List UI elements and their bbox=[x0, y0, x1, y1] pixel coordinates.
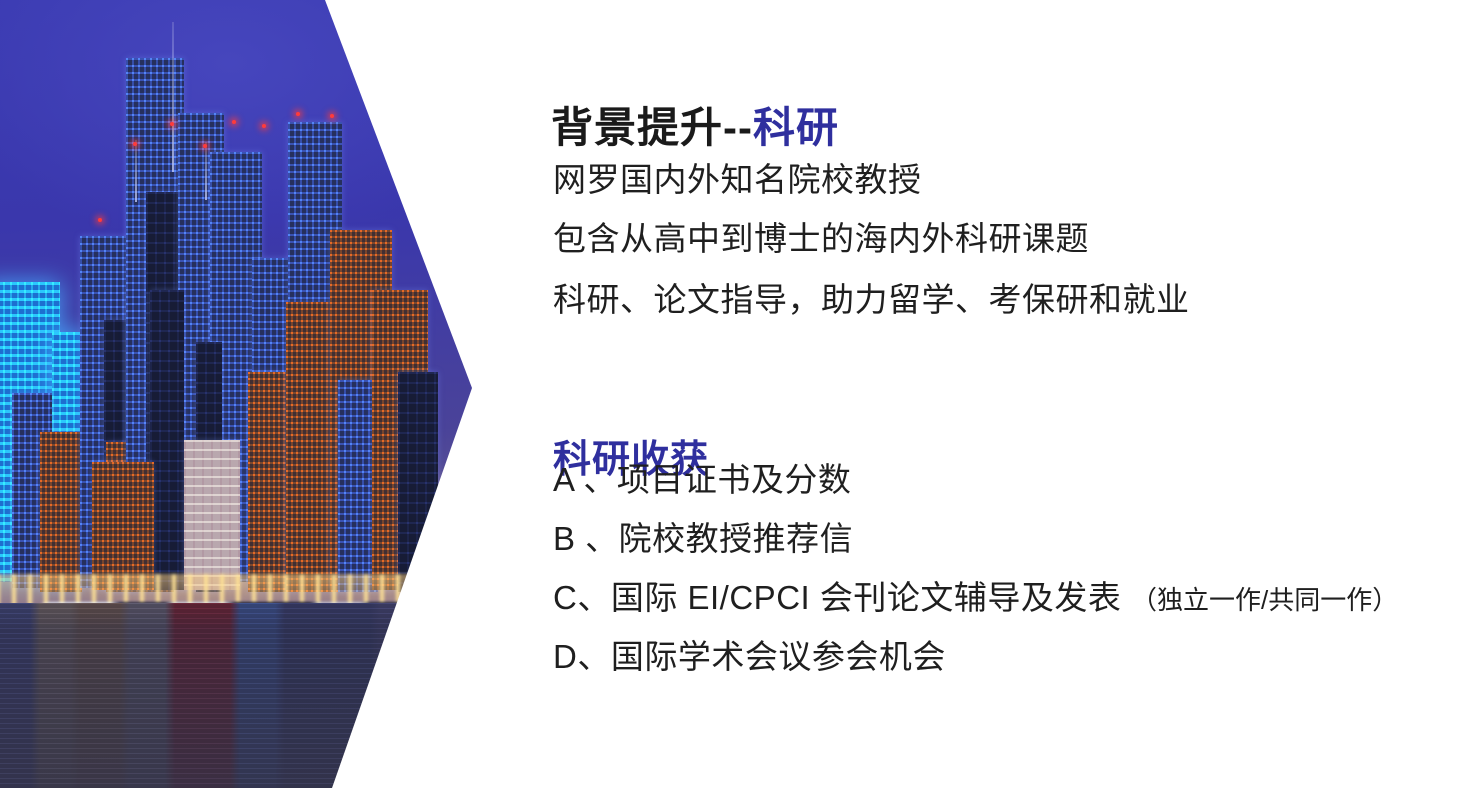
harbor-water bbox=[0, 603, 500, 788]
aviation-light-6 bbox=[296, 112, 300, 116]
benefit-item: D、国际学术会议参会机会 bbox=[553, 640, 946, 673]
aviation-light-4 bbox=[232, 120, 236, 124]
aviation-light bbox=[170, 122, 174, 126]
benefit-label: C、国际 EI/CPCI 会刊论文辅导及发表 bbox=[553, 579, 1131, 616]
benefit-label: B 、院校教授推荐信 bbox=[553, 520, 853, 557]
intro-line: 科研、论文指导，助力留学、考保研和就业 bbox=[553, 283, 1190, 316]
page-title: 背景提升--科研 bbox=[551, 94, 839, 155]
building-brick-1 bbox=[92, 462, 154, 590]
water-reflection-streaks bbox=[0, 603, 500, 788]
antenna-mast-3 bbox=[205, 142, 207, 200]
intro-line: 网罗国内外知名院校教授 bbox=[553, 163, 922, 196]
antenna-mast-2 bbox=[135, 140, 137, 202]
page-title-accent: 科研 bbox=[753, 104, 839, 151]
aviation-light-2 bbox=[133, 142, 137, 146]
antenna-mast bbox=[172, 22, 174, 172]
benefit-note: （独立一作/共同一作） bbox=[1131, 585, 1398, 615]
intro-line: 包含从高中到博士的海内外科研课题 bbox=[553, 222, 1089, 255]
page-title-main: 背景提升-- bbox=[551, 104, 753, 151]
building-dark-6 bbox=[398, 372, 438, 592]
aviation-light-5 bbox=[262, 124, 266, 128]
content-column: 背景提升--科研 网罗国内外知名院校教授 包含从高中到博士的海内外科研课题 科研… bbox=[551, 0, 1472, 788]
benefit-item: C、国际 EI/CPCI 会刊论文辅导及发表 （独立一作/共同一作） bbox=[553, 581, 1398, 614]
benefit-label: A 、项目证书及分数 bbox=[553, 461, 851, 498]
aviation-light-7 bbox=[330, 114, 334, 118]
aviation-light-8 bbox=[98, 218, 102, 222]
city-skyline-photo bbox=[0, 0, 500, 788]
benefit-item: A 、项目证书及分数 bbox=[553, 463, 851, 496]
slide-root: 背景提升--科研 网罗国内外知名院校教授 包含从高中到博士的海内外科研课题 科研… bbox=[0, 0, 1472, 788]
benefit-item: B 、院校教授推荐信 bbox=[553, 522, 853, 555]
building-dark-4 bbox=[150, 290, 184, 590]
building-pale-1 bbox=[184, 440, 240, 590]
benefit-label: D、国际学术会议参会机会 bbox=[553, 638, 946, 675]
building-warm-1 bbox=[40, 432, 82, 592]
aviation-light-3 bbox=[203, 144, 207, 148]
